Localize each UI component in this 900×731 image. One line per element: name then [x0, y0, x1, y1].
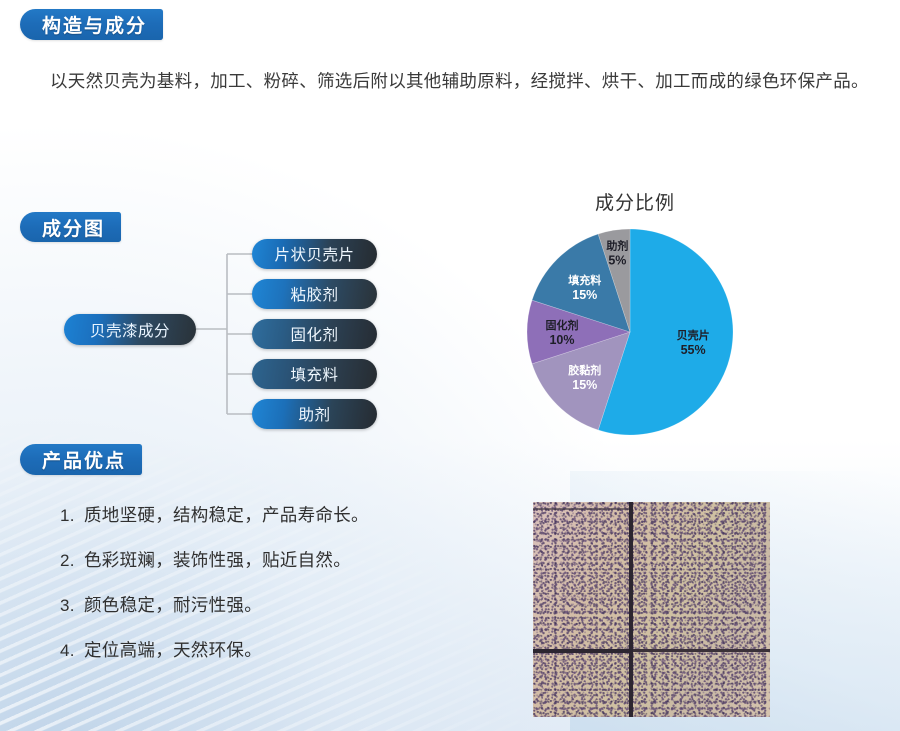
merit-item-number: 1.: [60, 493, 84, 538]
pie-label-name-助剂: 助剂: [606, 239, 628, 253]
merit-item: 1.质地坚硬，结构稳定，产品寿命长。: [60, 493, 490, 538]
merits-list: 1.质地坚硬，结构稳定，产品寿命长。2.色彩斑斓，装饰性强，贴近自然。3.颜色稳…: [60, 493, 490, 673]
merit-item-text: 定位高端，天然环保。: [84, 628, 262, 673]
merit-item-number: 3.: [60, 583, 84, 628]
section-badge-structure: 构造与成分: [20, 9, 163, 40]
tree-leaf-node-flake-shell[interactable]: 片状贝壳片: [252, 239, 377, 269]
pie-label-value-助剂: 5%: [608, 254, 626, 268]
merit-item-text: 色彩斑斓，装饰性强，贴近自然。: [84, 538, 351, 583]
tree-leaf-node-adhesive[interactable]: 粘胶剂: [252, 279, 377, 309]
photo-grout-line-top: [533, 508, 629, 510]
pie-label-name-固化剂: 固化剂: [546, 318, 579, 332]
pie-label-value-胶黏剂: 15%: [572, 378, 597, 392]
merit-item: 4.定位高端，天然环保。: [60, 628, 490, 673]
pie-label-value-填充料: 15%: [572, 288, 597, 302]
pie-label-name-胶黏剂: 胶黏剂: [568, 363, 601, 377]
product-texture-photo: [533, 502, 770, 717]
pie-label-name-填充料: 填充料: [568, 273, 601, 287]
pie-chart[interactable]: 贝壳片55%胶黏剂15%固化剂10%填充料15%助剂5%: [500, 226, 760, 438]
merit-item-number: 2.: [60, 538, 84, 583]
photo-grout-line-vertical: [629, 502, 633, 717]
slide-page: 构造与成分 以天然贝壳为基料，加工、粉碎、筛选后附以其他辅助原料，经搅拌、烘干、…: [0, 0, 900, 731]
tree-root-node[interactable]: 贝壳漆成分: [64, 314, 196, 345]
merit-item: 2.色彩斑斓，装饰性强，贴近自然。: [60, 538, 490, 583]
composition-pie-panel: 成分比例 贝壳片55%胶黏剂15%固化剂10%填充料15%助剂5%: [470, 188, 800, 443]
pie-label-value-固化剂: 10%: [549, 333, 574, 347]
tree-leaf-node-additive[interactable]: 助剂: [252, 399, 377, 429]
merit-item-text: 质地坚硬，结构稳定，产品寿命长。: [84, 493, 369, 538]
photo-grout-line-horizontal-right: [633, 649, 770, 652]
pie-label-name-贝壳片: 贝壳片: [677, 328, 710, 342]
merit-item-text: 颜色稳定，耐污性强。: [84, 583, 262, 628]
pie-chart-title: 成分比例: [470, 188, 800, 215]
composition-tree-diagram: 贝壳漆成分 片状贝壳片 粘胶剂 固化剂 填充料 助剂: [52, 236, 452, 441]
pie-label-value-贝壳片: 55%: [681, 343, 706, 357]
tree-leaf-node-filler[interactable]: 填充料: [252, 359, 377, 389]
structure-paragraph: 以天然贝壳为基料，加工、粉碎、筛选后附以其他辅助原料，经搅拌、烘干、加工而成的绿…: [14, 60, 886, 102]
photo-grout-line-horizontal-left: [533, 649, 633, 653]
merit-item-number: 4.: [60, 628, 84, 673]
tree-leaf-node-curing-agent[interactable]: 固化剂: [252, 319, 377, 349]
section-badge-merits: 产品优点: [20, 444, 142, 475]
photo-speckle-layer-2: [533, 502, 770, 717]
merit-item: 3.颜色稳定，耐污性强。: [60, 583, 490, 628]
